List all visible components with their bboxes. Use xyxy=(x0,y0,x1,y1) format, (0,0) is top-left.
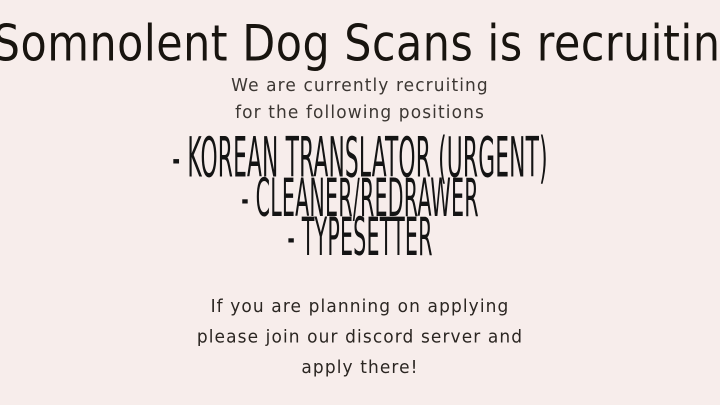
application-instructions-line: please join our discord server and xyxy=(0,322,720,352)
open-positions-list: - KOREAN TRANSLATOR (URGENT) - CLEANER/R… xyxy=(0,131,720,248)
intro-line: We are currently recruiting xyxy=(0,72,720,99)
recruitment-poster: Somnolent Dog Scans is recruiting! We ar… xyxy=(0,0,720,405)
application-instructions-line: If you are planning on applying xyxy=(0,292,720,322)
list-item: - TYPESETTER xyxy=(137,211,583,264)
intro-line: for the following positions xyxy=(0,99,720,126)
application-instructions-line: apply there! xyxy=(0,353,720,383)
intro-text-block: We are currently recruiting for the foll… xyxy=(0,72,720,127)
page-title: Somnolent Dog Scans is recruiting! xyxy=(0,18,720,70)
application-instructions: If you are planning on applying please j… xyxy=(0,292,720,383)
